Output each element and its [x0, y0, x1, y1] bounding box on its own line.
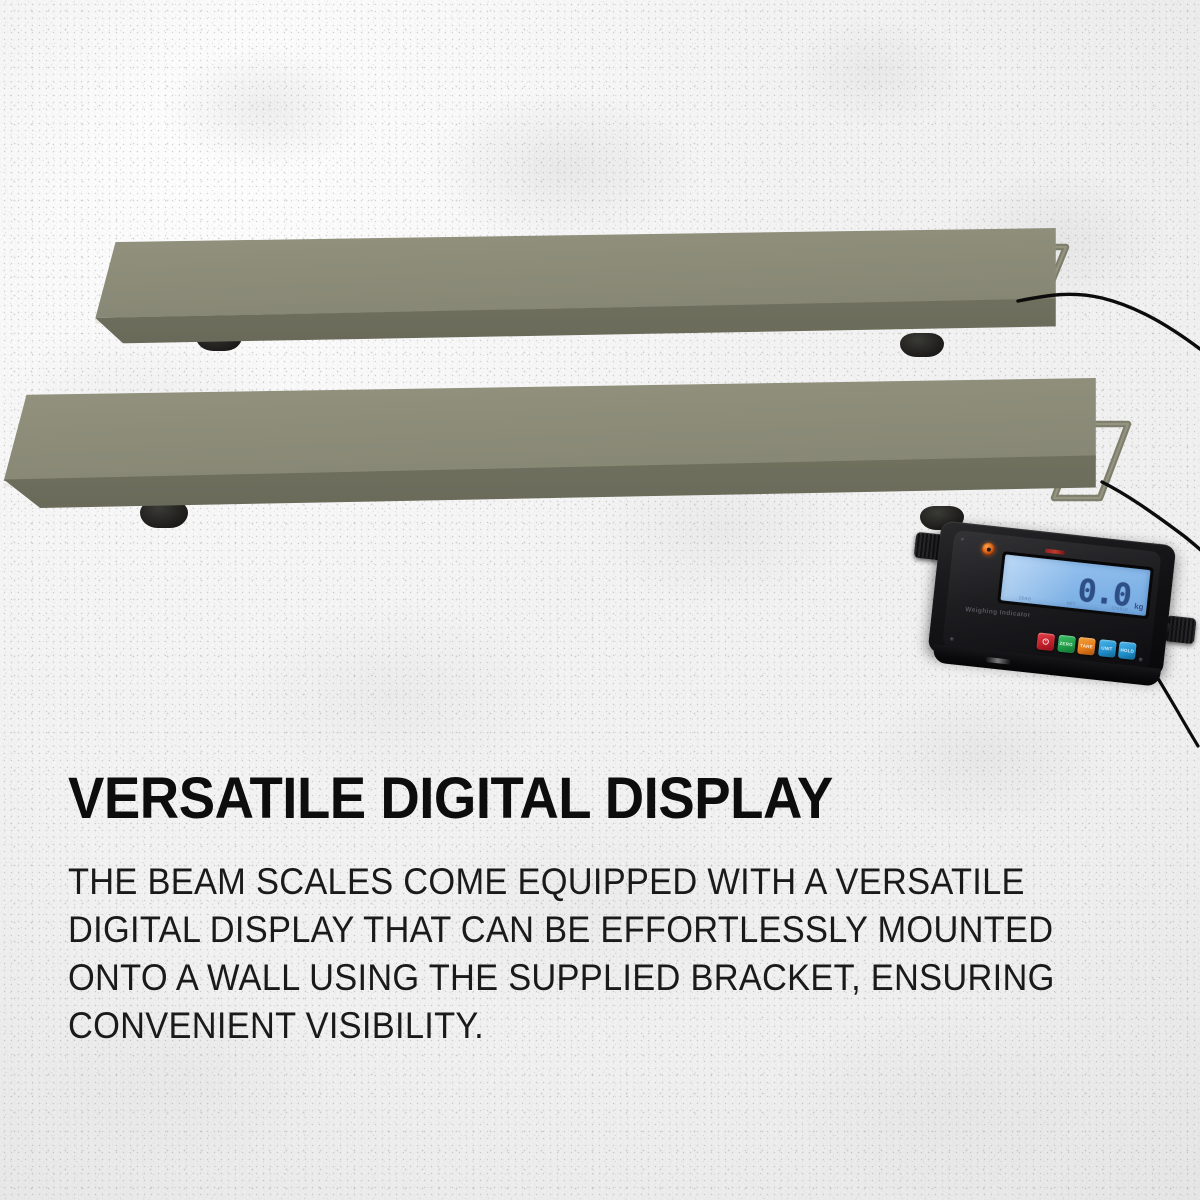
lcd-weight-value: 0.0 — [1076, 576, 1132, 613]
product-feature-graphic: ZERO NET STABLE 0.0 kg Weighing Indicato… — [0, 0, 1200, 1200]
body-copy: THE BEAM SCALES COME EQUIPPED WITH A VER… — [68, 858, 1147, 1050]
tare-key-label: TARE — [1080, 643, 1093, 649]
page-title: VERSATILE DIGITAL DISPLAY — [68, 770, 1083, 828]
lcd-frame: ZERO NET STABLE 0.0 kg — [997, 551, 1154, 619]
lcd-unit-label: kg — [1134, 603, 1144, 612]
bezel-screw-br — [1139, 657, 1143, 661]
brand-accent-stripe — [1045, 549, 1065, 555]
load-cell-cable-upper — [1010, 265, 1200, 385]
zero-key[interactable]: ZERO — [1057, 635, 1076, 654]
print-key[interactable]: HOLD — [1118, 641, 1137, 660]
bezel-screw-bl — [950, 637, 954, 641]
zero-key-label: ZERO — [1059, 641, 1073, 647]
print-key-label: HOLD — [1120, 647, 1134, 653]
tare-key[interactable]: TARE — [1077, 637, 1096, 656]
weighing-indicator[interactable]: ZERO NET STABLE 0.0 kg Weighing Indicato… — [917, 512, 1191, 704]
lcd-screen: ZERO NET STABLE 0.0 kg — [1000, 554, 1150, 615]
base-lip-highlight — [985, 657, 1011, 665]
indicator-brand-label: Weighing Indicator — [965, 606, 1041, 620]
bezel-screw-tl — [961, 538, 965, 542]
power-icon: ⏻ — [1042, 637, 1049, 646]
bracket-knob-right[interactable] — [1164, 615, 1197, 644]
beam-scale-upper — [0, 225, 1060, 375]
led-center-dot — [986, 547, 990, 551]
power-key[interactable]: ⏻ — [1036, 632, 1055, 651]
annunciator-net: NET — [1067, 600, 1076, 606]
units-key[interactable]: UNIT — [1098, 639, 1117, 658]
units-key-label: UNIT — [1101, 645, 1113, 651]
rubber-foot-upper-right — [900, 333, 944, 357]
copy-block: VERSATILE DIGITAL DISPLAY THE BEAM SCALE… — [68, 770, 1148, 1050]
keypad: ⏻ ZERO TARE UNIT HOLD — [1036, 632, 1136, 660]
